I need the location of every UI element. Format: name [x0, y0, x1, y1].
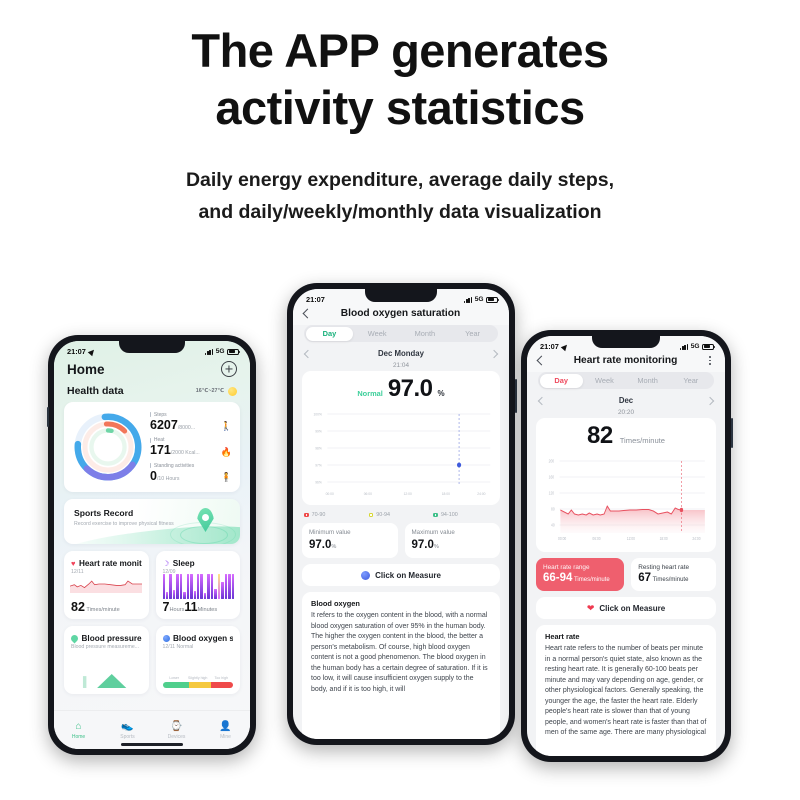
- scale-label: Lower: [163, 676, 187, 680]
- current-date: Dec Monday: [378, 349, 424, 358]
- power-button[interactable]: [515, 379, 517, 413]
- segment-day[interactable]: Day: [306, 327, 354, 341]
- date-navigator: Dec Monday: [293, 349, 509, 362]
- person-icon: 👤: [219, 722, 231, 732]
- heart-rate-range-card: Heart rate range 66-94 Times/minute: [536, 558, 624, 591]
- standing-icon: 🧍: [221, 473, 232, 482]
- location-arrow-icon: [88, 347, 96, 355]
- circle-icon: [163, 635, 170, 642]
- metric-steps: Steps 6207/8000... 🚶: [150, 412, 232, 432]
- signal-bars-icon: [464, 297, 472, 303]
- svg-text:00:00: 00:00: [558, 537, 566, 541]
- phone-center-screen: 21:07 5G Blood oxygen saturation Day Wee…: [293, 289, 509, 739]
- article-title: Blood oxygen: [311, 599, 491, 608]
- measure-button[interactable]: ❤ Click on Measure: [536, 597, 716, 619]
- notch: [119, 341, 185, 353]
- prev-date-icon[interactable]: [538, 396, 546, 404]
- segment-year[interactable]: Year: [449, 327, 497, 341]
- network-label: 5G: [216, 348, 225, 355]
- legend-label: 90-94: [376, 512, 390, 518]
- svg-text:18:00: 18:00: [442, 492, 450, 496]
- network-label: 5G: [691, 343, 700, 350]
- more-vertical-icon[interactable]: [706, 356, 714, 364]
- current-date: Dec: [619, 396, 633, 405]
- headline-line-2: activity statistics: [0, 79, 800, 136]
- card-date: Blood pressure measureme...: [71, 644, 142, 650]
- svg-text:120: 120: [549, 491, 554, 495]
- date-navigator: Dec: [527, 396, 725, 409]
- oxygen-legend: 70-90 90-94 94-100: [302, 512, 500, 518]
- metric-value: 171/2000 Kcal...: [150, 444, 218, 457]
- sleep-chart: [163, 574, 235, 599]
- svg-text:00:00: 00:00: [326, 492, 334, 496]
- segment-month[interactable]: Month: [401, 327, 449, 341]
- svg-text:06:00: 06:00: [592, 537, 600, 541]
- svg-text:100%: 100%: [313, 412, 322, 416]
- svg-text:160: 160: [549, 475, 554, 479]
- weather-widget: 16℃~27℃: [196, 387, 237, 396]
- sports-record-title: Sports Record: [74, 508, 133, 518]
- home-icon: ⌂: [75, 722, 81, 732]
- svg-text:40: 40: [551, 523, 555, 527]
- metric-heat: Heat 171/2000 Kcal... 🔥: [150, 437, 232, 457]
- svg-text:80: 80: [551, 507, 555, 511]
- blood-oxygen-article: Blood oxygen It refers to the oxygen con…: [302, 592, 500, 739]
- card-title: Blood oxygen satur: [173, 634, 233, 643]
- heart-icon: ❤: [587, 604, 595, 613]
- measure-button[interactable]: Click on Measure: [302, 564, 500, 586]
- card-value: 97.0%: [309, 539, 391, 551]
- watch-icon: ⌚: [170, 722, 182, 732]
- svg-text:18:00: 18:00: [660, 537, 668, 541]
- tab-mine[interactable]: 👤 Mine: [201, 722, 250, 740]
- legend-swatch: [433, 513, 438, 518]
- heart-icon: ♥: [71, 560, 75, 568]
- add-icon[interactable]: [221, 361, 237, 377]
- period-segmented-control[interactable]: Day Week Month Year: [538, 372, 714, 389]
- weather-temp: 16℃~27℃: [196, 388, 224, 394]
- period-segmented-control[interactable]: Day Week Month Year: [304, 325, 498, 342]
- battery-icon: [702, 344, 714, 350]
- notch: [592, 336, 660, 348]
- headline-line-1: The APP generates: [191, 24, 608, 77]
- measure-button-label: Click on Measure: [599, 604, 665, 613]
- metrics-list: Steps 6207/8000... 🚶 Heat 171/2000 Kcal.…: [144, 412, 232, 483]
- legend-item-mid: 90-94: [369, 512, 434, 518]
- metric-label: Heat: [150, 437, 218, 443]
- oxygen-scale-labels: Lower Slightly high Too high: [163, 676, 234, 680]
- tab-label: Home: [72, 734, 85, 740]
- card-value: 67 Times/minute: [638, 572, 709, 584]
- resting-heart-rate-card: Resting heart rate 67 Times/minute: [631, 558, 716, 591]
- heart-rate-reading: 82 Times/minute: [544, 424, 708, 448]
- heart-rate-article: Heart rate Heart rate refers to the numb…: [536, 625, 716, 756]
- health-data-title: Health data: [67, 385, 124, 397]
- activity-rings-card[interactable]: Steps 6207/8000... 🚶 Heat 171/2000 Kcal.…: [64, 402, 240, 492]
- card-title: Sleep: [173, 559, 195, 568]
- home-title: Home: [67, 362, 105, 377]
- article-title: Heart rate: [545, 632, 707, 641]
- tab-home[interactable]: ⌂ Home: [54, 722, 103, 740]
- card-blood-pressure[interactable]: Blood pressure mor Blood pressure measur…: [64, 626, 149, 694]
- card-label: Minimum value: [309, 529, 391, 537]
- screen-title: Heart rate monitoring: [545, 355, 706, 366]
- card-label: Resting heart rate: [638, 564, 709, 571]
- metric-label: Standing activities: [150, 463, 218, 469]
- status-badge: Normal: [357, 389, 382, 398]
- heart-rate-chart: 200160 1208040 00:0006:00 12:0018:0024:0…: [544, 453, 708, 545]
- reading-time: 20:20: [527, 409, 725, 418]
- status-time: 21:07: [540, 342, 559, 351]
- segment-week[interactable]: Week: [353, 327, 401, 341]
- prev-date-icon[interactable]: [304, 349, 312, 357]
- map-pin-icon: [197, 508, 214, 532]
- sun-icon: [228, 387, 237, 396]
- power-button[interactable]: [731, 418, 733, 448]
- cards-row-1: ♥ Heart rate monitoring 12/11 82 Times/m…: [64, 551, 240, 619]
- metric-standing: Standing activities 0/10 Hours 🧍: [150, 463, 232, 483]
- flame-icon: 🔥: [221, 448, 232, 457]
- page-title: The APP generates activity statistics: [0, 22, 800, 137]
- article-body: It refers to the oxygen content in the b…: [311, 611, 491, 695]
- tab-devices[interactable]: ⌚ Devices: [152, 722, 201, 740]
- tab-label: Sports: [120, 734, 134, 740]
- svg-text:98%: 98%: [315, 446, 322, 450]
- segment-week[interactable]: Week: [583, 374, 626, 388]
- cards-row-2: Blood pressure mor Blood pressure measur…: [64, 626, 240, 694]
- reading-time: 21:04: [293, 362, 509, 371]
- blood-oxygen-chart: 100%99% 98%97%96% 00:0006:00 12:0018:002…: [310, 406, 492, 498]
- svg-text:24:00: 24:00: [692, 537, 700, 541]
- card-sleep[interactable]: ☽ Sleep 12/09 7Hours11Minutes: [156, 551, 241, 619]
- tab-label: Mine: [220, 734, 231, 740]
- reading-unit: %: [438, 389, 445, 398]
- phone-center-blood-oxygen: 21:07 5G Blood oxygen saturation Day Wee…: [287, 283, 515, 745]
- tab-sports[interactable]: 👟 Sports: [103, 722, 152, 740]
- svg-text:99%: 99%: [315, 429, 322, 433]
- minimum-value-card: Minimum value 97.0%: [302, 523, 398, 558]
- oxygen-reading-panel: Normal 97.0 % 100%99% 98%97%96%: [302, 371, 500, 505]
- notch: [365, 289, 437, 302]
- card-title: Heart rate monitoring: [79, 559, 142, 568]
- min-max-row: Minimum value 97.0% Maximum value 97.0%: [302, 523, 500, 558]
- segment-month[interactable]: Month: [626, 374, 669, 388]
- reading-value: 97.0: [388, 377, 433, 401]
- heart-rate-panel: 82 Times/minute: [536, 418, 716, 552]
- card-date: 12/11: [71, 569, 142, 575]
- card-value: 66-94 Times/minute: [543, 572, 617, 584]
- svg-text:96%: 96%: [315, 480, 322, 484]
- legend-item-high: 94-100: [433, 512, 498, 518]
- home-scroll[interactable]: Steps 6207/8000... 🚶 Heat 171/2000 Kcal.…: [54, 402, 250, 749]
- tab-label: Devices: [168, 734, 186, 740]
- svg-text:12:00: 12:00: [404, 492, 412, 496]
- volume-button[interactable]: [47, 407, 49, 427]
- card-heart-rate[interactable]: ♥ Heart rate monitoring 12/11 82 Times/m…: [64, 551, 149, 619]
- svg-text:97%: 97%: [315, 463, 322, 467]
- sports-record-card[interactable]: Sports Record Record exercise to improve…: [64, 499, 240, 544]
- oxygen-measure-icon: [361, 571, 370, 580]
- oxygen-scale-bar: [163, 682, 234, 688]
- legend-swatch: [369, 513, 374, 518]
- measure-button-label: Click on Measure: [375, 571, 441, 580]
- next-date-icon[interactable]: [490, 349, 498, 357]
- card-label: Heart rate range: [543, 564, 617, 571]
- svg-text:24:00: 24:00: [477, 492, 485, 496]
- reading-value: 82: [587, 424, 613, 448]
- status-time: 21:07: [67, 347, 86, 356]
- next-date-icon[interactable]: [706, 396, 714, 404]
- card-date: 12/11 Normal: [163, 644, 234, 650]
- legend-label: 70-90: [312, 512, 326, 518]
- signal-bars-icon: [680, 344, 688, 350]
- metric-value: 6207/8000...: [150, 419, 218, 432]
- card-value: 97.0%: [412, 539, 494, 551]
- blood-pressure-chart: [72, 672, 141, 694]
- card-blood-oxygen[interactable]: Blood oxygen satur 12/11 Normal Lower Sl…: [156, 626, 241, 694]
- card-label: Maximum value: [412, 529, 494, 537]
- signal-bars-icon: [205, 349, 213, 355]
- article-body: Heart rate refers to the number of beats…: [545, 644, 707, 739]
- subtitle-line-1: Daily energy expenditure, average daily …: [0, 165, 800, 197]
- card-value: 7Hours11Minutes: [163, 601, 218, 614]
- phone-left-screen: 21:07 5G Home Health data 16℃~27℃: [54, 341, 250, 749]
- legend-swatch: [304, 513, 309, 518]
- maximum-value-card: Maximum value 97.0%: [405, 523, 501, 558]
- card-value: 82 Times/minute: [71, 601, 120, 614]
- heart-rate-summary-row: Heart rate range 66-94 Times/minute Rest…: [536, 558, 716, 591]
- legend-label: 94-100: [441, 512, 458, 518]
- walking-icon: 🚶: [221, 422, 232, 431]
- activity-rings: [72, 411, 144, 483]
- status-time: 21:07: [306, 295, 325, 304]
- shoe-icon: 👟: [121, 722, 133, 732]
- droplet-icon: [70, 634, 80, 644]
- battery-icon: [486, 297, 498, 303]
- segment-day[interactable]: Day: [540, 374, 583, 388]
- oxygen-reading: Normal 97.0 %: [310, 377, 492, 401]
- card-title: Blood pressure mor: [82, 634, 142, 643]
- heart-rate-sparkline: [70, 576, 143, 598]
- legend-item-low: 70-90: [304, 512, 369, 518]
- network-label: 5G: [475, 296, 484, 303]
- segment-year[interactable]: Year: [669, 374, 712, 388]
- subtitle-line-2: and daily/weekly/monthly data visualizat…: [0, 197, 800, 229]
- phone-left-home: 21:07 5G Home Health data 16℃~27℃: [48, 335, 256, 755]
- location-arrow-icon: [561, 342, 569, 350]
- home-indicator: [121, 743, 183, 746]
- moon-icon: ☽: [163, 560, 170, 568]
- scale-label: Slightly high: [186, 676, 210, 680]
- reading-unit: Times/minute: [620, 436, 665, 445]
- svg-text:200: 200: [549, 459, 554, 463]
- screen-title: Blood oxygen saturation: [311, 308, 490, 319]
- phone-right-screen: 21:07 5G Heart rate monitoring Day Week …: [527, 336, 725, 756]
- page-subtitle: Daily energy expenditure, average daily …: [0, 165, 800, 228]
- metric-value: 0/10 Hours: [150, 470, 218, 483]
- svg-text:12:00: 12:00: [627, 537, 635, 541]
- phone-right-heart-rate: 21:07 5G Heart rate monitoring Day Week …: [521, 330, 731, 762]
- sports-record-subtitle: Record exercise to improve physical fitn…: [74, 521, 174, 527]
- scale-label: Too high: [210, 676, 234, 680]
- svg-text:06:00: 06:00: [364, 492, 372, 496]
- battery-icon: [227, 349, 239, 355]
- metric-label: Steps: [150, 412, 218, 418]
